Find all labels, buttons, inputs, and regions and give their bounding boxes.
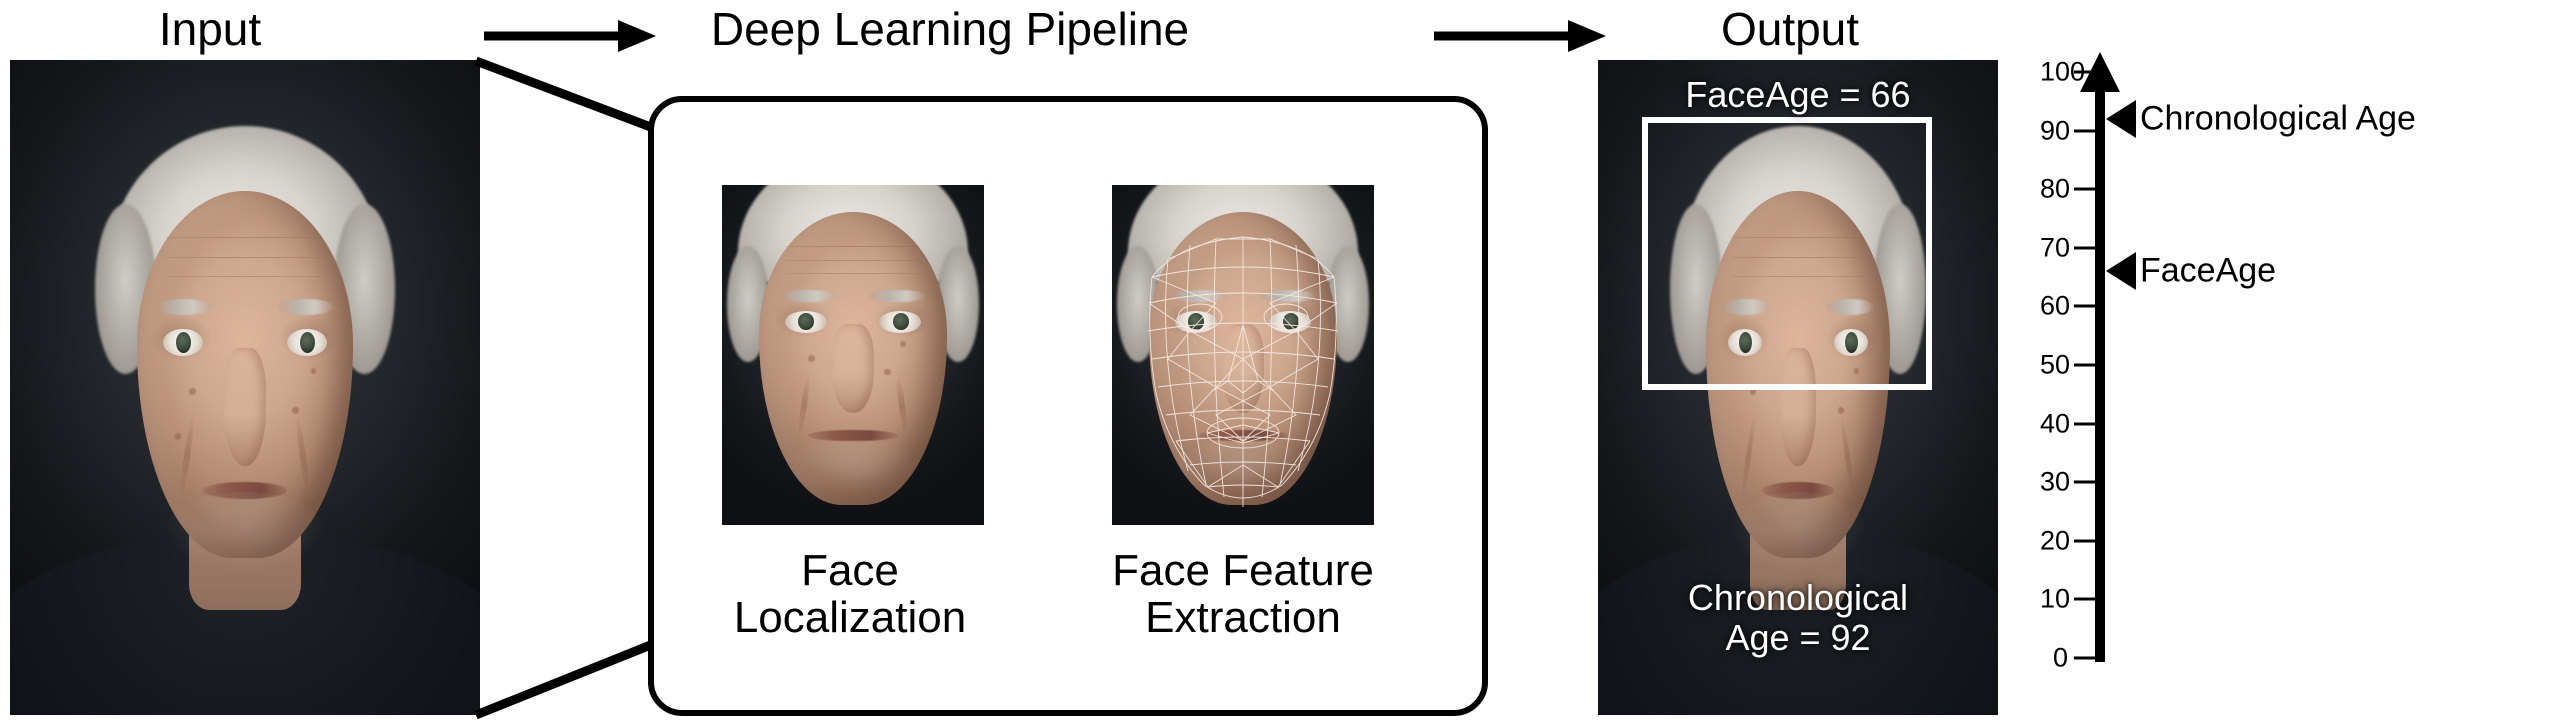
output-heading: Output xyxy=(1580,6,2000,52)
axis-marker-label-faceage: FaceAge xyxy=(2140,252,2276,291)
arrow-pipeline-to-output-icon xyxy=(1430,14,1610,62)
output-chronological-age-label: Chronological Age = 92 xyxy=(1598,578,1998,657)
figure-root: Input Deep Learning Pipeline Output xyxy=(0,0,2560,723)
axis-marker-layer: Chronological AgeFaceAge xyxy=(2040,50,2560,710)
face-localization-image xyxy=(722,185,984,525)
stage-caption-face-feature-extraction: Face Feature Extraction xyxy=(1078,548,1408,641)
age-scale-axis: 0102030405060708090100 Chronological Age… xyxy=(2040,50,2560,710)
face-detection-bounding-box xyxy=(1642,117,1932,390)
face-feature-extraction-image xyxy=(1112,185,1374,525)
output-portrait-image: FaceAge = 66 Chronological Age = 92 xyxy=(1598,60,1998,715)
input-portrait-image xyxy=(10,60,480,715)
stage-caption-face-localization: Face Localization xyxy=(700,548,1000,641)
axis-marker-label-chronological-age: Chronological Age xyxy=(2140,99,2416,138)
output-faceage-label: FaceAge = 66 xyxy=(1598,75,1998,115)
face-landmark-mesh-icon xyxy=(1112,185,1374,525)
left-triangle-marker-icon-1 xyxy=(2106,252,2136,290)
left-triangle-marker-icon-0 xyxy=(2106,100,2136,138)
pipeline-heading: Deep Learning Pipeline xyxy=(640,6,1260,52)
input-heading: Input xyxy=(0,6,420,52)
